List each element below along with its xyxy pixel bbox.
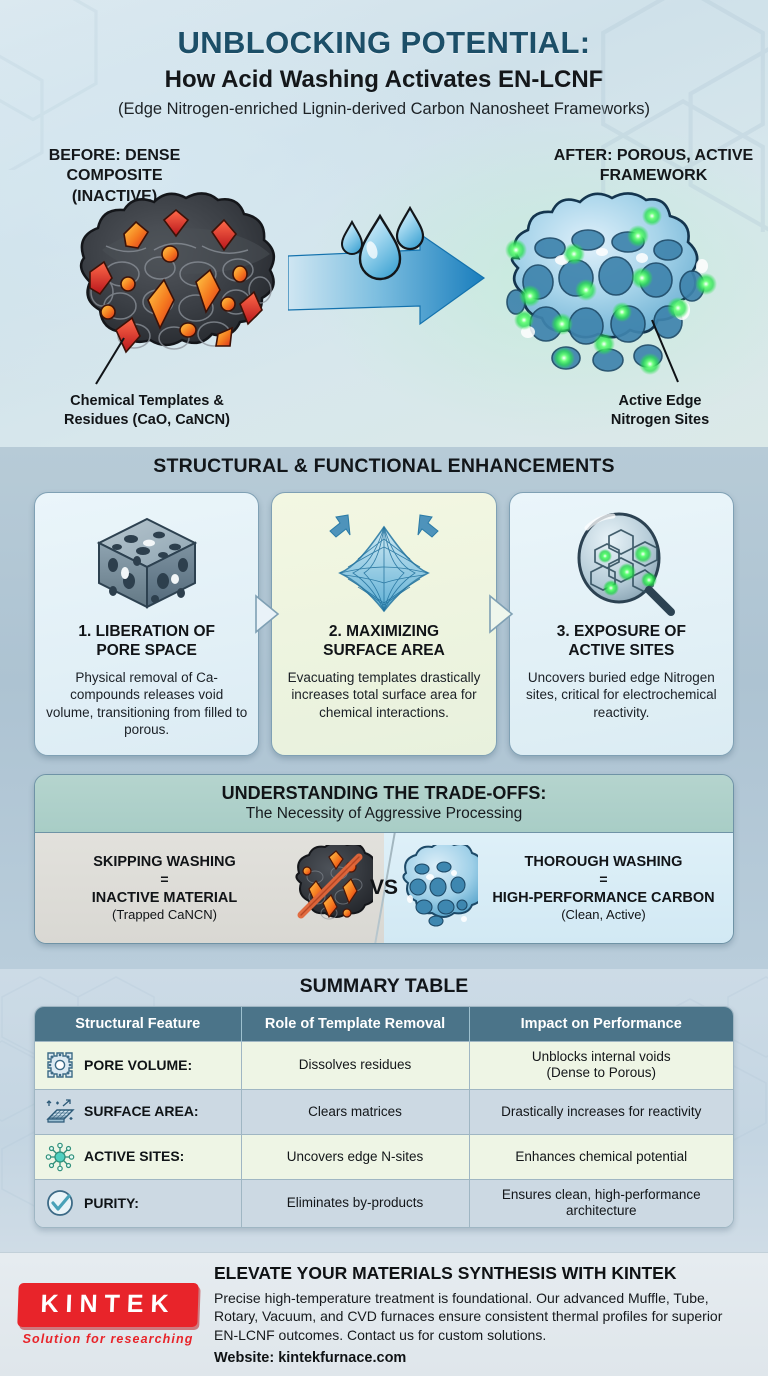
row-2-feature-label: SURFACE AREA: [84,1103,199,1120]
thorough-line1: THOROUGH WASHING [482,853,725,871]
table-row: PURITY: Eliminates by-products Ensures c… [35,1179,733,1226]
thorough-line3: (Clean, Active) [482,907,725,923]
footer-website[interactable]: Website: kintekfurnace.com [214,1350,746,1366]
skipping-washing-text: SKIPPING WASHING = INACTIVE MATERIAL (Tr… [43,853,286,924]
after-caption: Active Edge Nitrogen Sites [570,392,750,430]
dense-composite-illustration-icon [62,188,312,388]
card-3-title-line2: ACTIVE SITES [568,642,674,659]
row-4-feature-label: PURITY: [84,1195,139,1212]
thorough-line2: HIGH-PERFORMANCE CARBON [482,889,725,907]
row-3-feature-cell: ACTIVE SITES: [35,1134,241,1179]
card-3-body: Uncovers buried edge Nitrogen sites, cri… [520,669,723,722]
table-body: PORE VOLUME: Dissolves residues Unblocks… [35,1042,733,1227]
skipping-line1: SKIPPING WASHING [43,853,286,871]
card-2-title-line2: SURFACE AREA [323,642,445,659]
column-header-structural-feature: Structural Feature [35,1007,241,1042]
enhancement-card-1[interactable]: 1. LIBERATION OF PORE SPACE Physical rem… [34,492,259,756]
chevron-right-icon-1 [254,594,280,634]
row-4-role: Eliminates by-products [241,1179,469,1226]
kintek-logo[interactable]: KINTEK Solution for researching [18,1283,198,1346]
tradeoffs-header: UNDERSTANDING THE TRADE-OFFS: The Necess… [35,775,733,833]
enhancements-section: STRUCTURAL & FUNCTIONAL ENHANCEMENTS [0,447,768,969]
tradeoffs-subheading: The Necessity of Aggressive Processing [41,805,727,823]
footer-section: KINTEK Solution for researching ELEVATE … [0,1252,768,1376]
row-2-role: Clears matrices [241,1089,469,1134]
card-2-title-line1: 2. MAXIMIZING [329,623,439,640]
after-caption-line1: Active Edge [619,393,702,409]
card-3-title-line1: 3. EXPOSURE OF [557,623,686,640]
porous-cube-icon [91,513,203,613]
active-site-node-icon [45,1142,75,1172]
row-4-impact: Ensures clean, high-performance architec… [469,1179,733,1226]
blocked-dense-particle-icon [289,845,373,931]
card-1-title-line1: 1. LIBERATION OF [78,623,215,640]
hero-section: UNBLOCKING POTENTIAL: How Acid Washing A… [0,0,768,447]
chevron-right-icon-2 [488,594,514,634]
card-3-illustration [565,505,677,621]
enhancements-title: STRUCTURAL & FUNCTIONAL ENHANCEMENTS [0,455,768,478]
table-head: Structural Feature Role of Template Remo… [35,1007,733,1042]
before-after-stage: ACID WASHING (Template Removal with HCl) [0,188,768,398]
before-caption: Chemical Templates & Residues (CaO, CaNC… [22,392,272,430]
row-1-feature-cell: PORE VOLUME: [35,1042,241,1090]
summary-title: SUMMARY TABLE [0,975,768,998]
footer-headline: ELEVATE YOUR MATERIALS SYNTHESIS WITH KI… [214,1263,746,1284]
skipping-equals: = [43,871,286,889]
row-1-impact: Unblocks internal voids (Dense to Porous… [469,1042,733,1090]
row-4-impact-line2: architecture [566,1203,637,1218]
tradeoffs-body: SKIPPING WASHING = INACTIVE MATERIAL (Tr… [35,833,733,943]
pore-lattice-icon [45,1050,75,1080]
enhancement-card-3[interactable]: 3. EXPOSURE OF ACTIVE SITES Uncovers bur… [509,492,734,756]
row-1-feature-label: PORE VOLUME: [84,1057,192,1074]
row-2-impact: Drastically increases for reactivity [469,1089,733,1134]
logo-wordmark: KINTEK [18,1290,199,1319]
expanding-mesh-icon [324,511,444,615]
infographic-page: UNBLOCKING POTENTIAL: How Acid Washing A… [0,0,768,1376]
table-row: SURFACE AREA: Clears matrices Drasticall… [35,1089,733,1134]
surface-grid-arrow-icon [45,1097,75,1127]
card-1-illustration [91,505,203,621]
tradeoff-thorough-washing: THOROUGH WASHING = HIGH-PERFORMANCE CARB… [384,833,733,943]
skipping-illustration [286,845,376,931]
tradeoffs-panel: UNDERSTANDING THE TRADE-OFFS: The Necess… [34,774,734,944]
card-3-title: 3. EXPOSURE OF ACTIVE SITES [557,623,686,661]
skipping-line3: (Trapped CaNCN) [43,907,286,923]
footer-body: Precise high-temperature treatment is fo… [214,1289,746,1344]
after-label-line1: AFTER: POROUS, ACTIVE [554,147,753,164]
column-header-role: Role of Template Removal [241,1007,469,1042]
before-caption-line2: Residues (CaO, CaNCN) [64,412,230,428]
clean-porous-particle-icon [396,845,478,931]
table-header-row: Structural Feature Role of Template Remo… [35,1007,733,1042]
row-1-impact-line1: Unblocks internal voids [532,1049,671,1064]
card-1-title: 1. LIBERATION OF PORE SPACE [78,623,215,661]
enhancement-card-2[interactable]: 2. MAXIMIZING SURFACE AREA Evacuating te… [271,492,496,756]
magnifier-active-sites-icon [565,510,677,616]
row-1-impact-line2: (Dense to Porous) [546,1065,656,1080]
after-label-line2: FRAMEWORK [600,167,708,184]
column-header-impact: Impact on Performance [469,1007,733,1042]
tradeoffs-heading: UNDERSTANDING THE TRADE-OFFS: [41,783,727,804]
card-2-body: Evacuating templates drastically increas… [282,669,485,722]
summary-table-wrapper: Structural Feature Role of Template Remo… [34,1006,734,1228]
row-4-feature-cell: PURITY: [35,1179,241,1226]
row-3-impact: Enhances chemical potential [469,1134,733,1179]
after-caption-line2: Nitrogen Sites [611,412,709,428]
thorough-equals: = [482,871,725,889]
row-4-impact-line1: Ensures clean, high-performance [502,1187,701,1202]
thorough-washing-text: THOROUGH WASHING = HIGH-PERFORMANCE CARB… [482,853,725,924]
footer-text-block: ELEVATE YOUR MATERIALS SYNTHESIS WITH KI… [198,1263,746,1366]
row-1-role: Dissolves residues [241,1042,469,1090]
row-2-feature-cell: SURFACE AREA: [35,1089,241,1134]
card-2-title: 2. MAXIMIZING SURFACE AREA [323,623,445,661]
logo-tagline: Solution for researching [18,1332,198,1346]
summary-table: Structural Feature Role of Template Remo… [35,1007,733,1227]
row-3-feature-label: ACTIVE SITES: [84,1148,184,1165]
card-1-body: Physical removal of Ca-compounds release… [45,669,248,739]
acid-washing-arrow-icon [288,206,493,336]
tradeoff-skipping-washing: SKIPPING WASHING = INACTIVE MATERIAL (Tr… [35,833,384,943]
logo-badge: KINTEK [17,1283,199,1327]
thorough-illustration [392,845,482,931]
table-row: ACTIVE SITES: Uncovers edge N-sites Enha… [35,1134,733,1179]
before-caption-line1: Chemical Templates & [70,393,224,409]
row-3-role: Uncovers edge N-sites [241,1134,469,1179]
summary-section: SUMMARY TABLE Structural Feature Role of… [0,969,768,1252]
card-2-illustration [324,505,444,621]
porous-framework-illustration-icon [492,192,732,387]
card-1-title-line2: PORE SPACE [96,642,197,659]
skipping-line2: INACTIVE MATERIAL [43,889,286,907]
vs-label: VS [370,876,398,900]
enhancement-cards: 1. LIBERATION OF PORE SPACE Physical rem… [0,478,768,756]
before-label-line1: BEFORE: DENSE COMPOSITE [49,147,181,184]
table-row: PORE VOLUME: Dissolves residues Unblocks… [35,1042,733,1090]
hexagon-decoration-left-icon [0,0,108,170]
check-circle-icon [45,1188,75,1218]
